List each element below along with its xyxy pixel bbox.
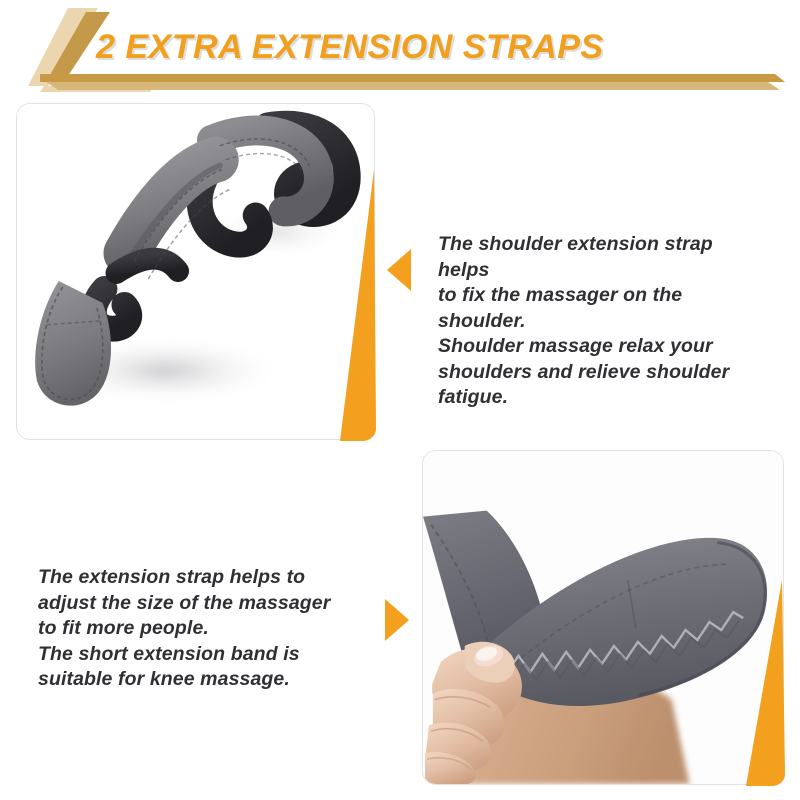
header-banner: 2 EXTRA EXTENSION STRAPS: [0, 0, 800, 100]
page-title: 2 EXTRA EXTENSION STRAPS: [96, 28, 604, 67]
header-underline-bar: [40, 72, 785, 92]
callout-line: The short extension band is: [38, 642, 368, 668]
callout-line: adjust the size of the massager: [38, 591, 368, 617]
panel-strap-folded: [16, 103, 375, 440]
strap-folded-photo: [17, 104, 374, 439]
arrow-right-icon: [385, 599, 409, 641]
callout-line: The extension strap helps to: [38, 565, 368, 591]
callout-line: to fix the massager on the shoulder.: [438, 283, 768, 334]
callout-line: to fit more people.: [38, 616, 368, 642]
strap-hand-photo: [423, 451, 783, 784]
callout-line: shoulders and relieve shoulder: [438, 360, 768, 386]
callout-text-size: The extension strap helps to adjust the …: [38, 565, 368, 693]
callout-line: Shoulder massage relax your: [438, 334, 768, 360]
panel-strap-hand: [422, 450, 784, 785]
callout-text-shoulder: The shoulder extension strap helps to fi…: [438, 232, 768, 411]
arrow-left-icon: [387, 249, 411, 291]
callout-line: suitable for knee massage.: [38, 667, 368, 693]
callout-line: fatigue.: [438, 385, 768, 411]
infographic-page: 2 EXTRA EXTENSION STRAPS: [0, 0, 800, 800]
callout-line: The shoulder extension strap helps: [438, 232, 768, 283]
